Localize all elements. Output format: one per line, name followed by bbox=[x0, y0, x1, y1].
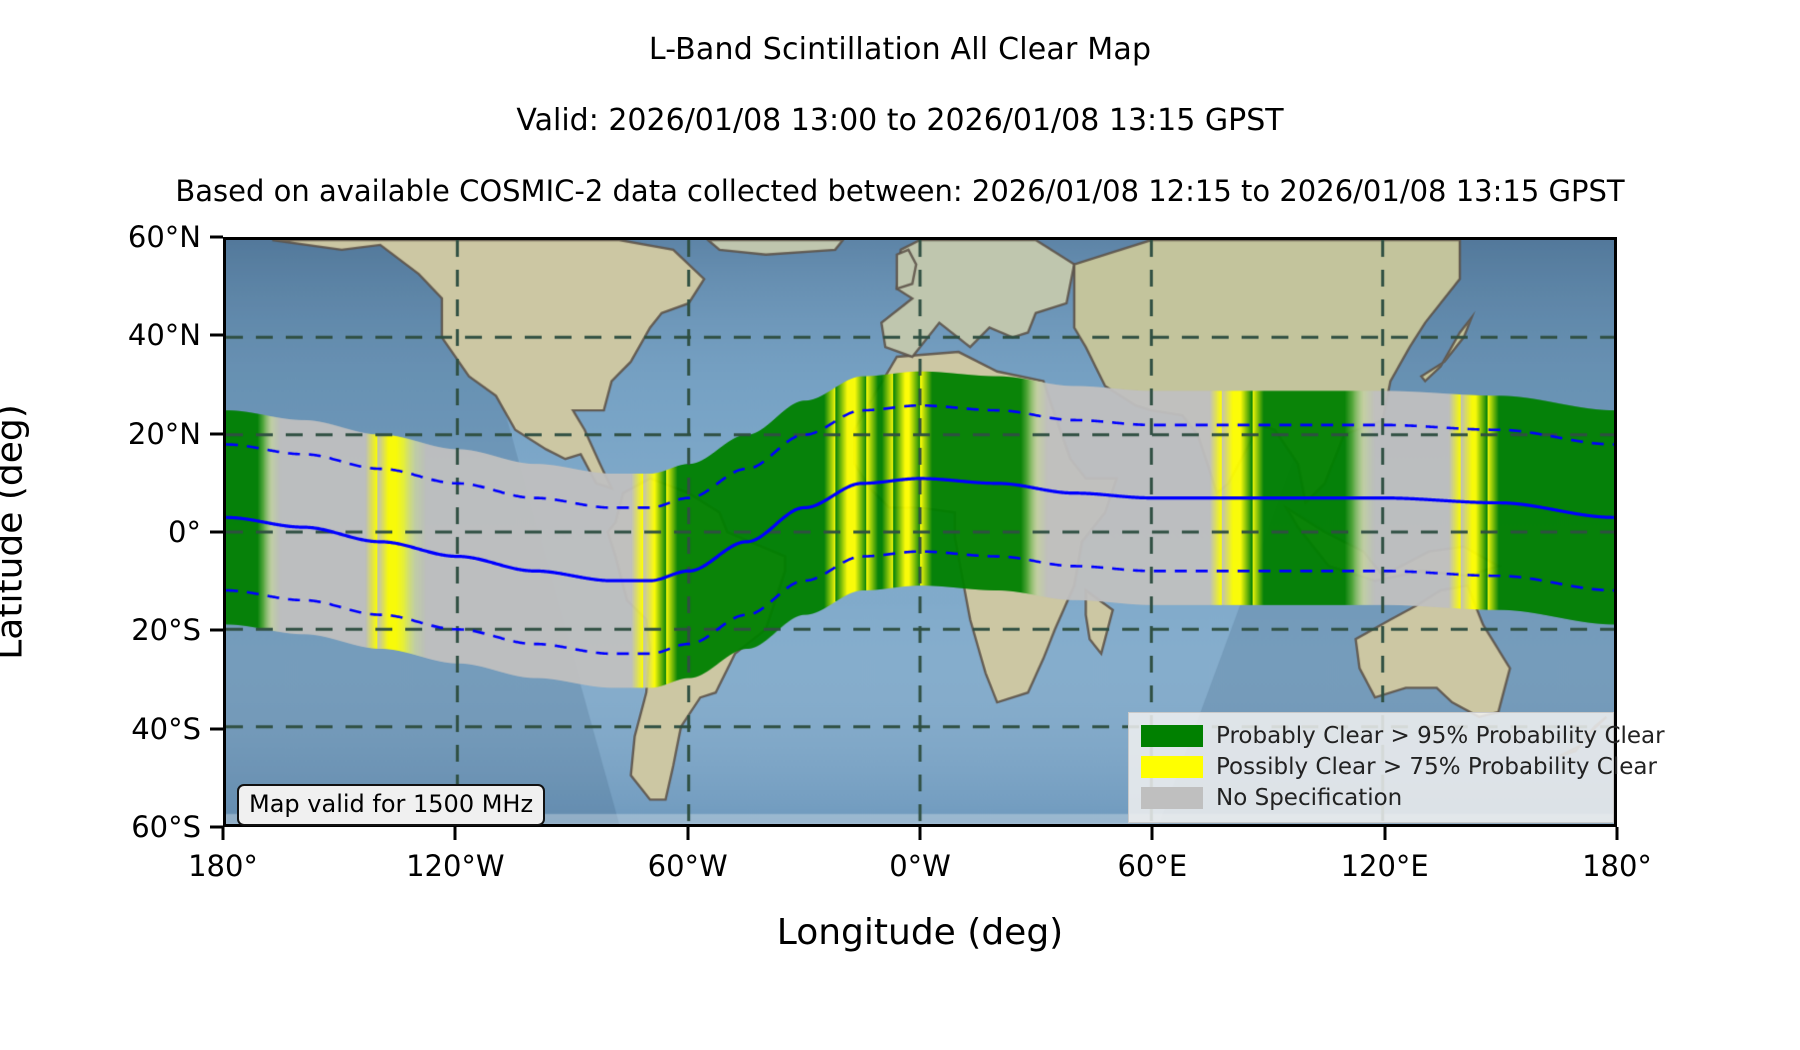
valid-period: Valid: 2026/01/08 13:00 to 2026/01/08 13… bbox=[0, 103, 1800, 138]
y-tick-mark-0 bbox=[210, 236, 223, 239]
x-tick-label-6: 180° bbox=[1582, 849, 1652, 883]
x-tick-label-1: 120°W bbox=[406, 849, 505, 883]
legend-label-no-specification: No Specification bbox=[1216, 785, 1402, 811]
legend-item-no-specification: No Specification bbox=[1141, 782, 1603, 813]
x-tick-label-5: 120°E bbox=[1341, 849, 1429, 883]
page-title: L-Band Scintillation All Clear Map bbox=[0, 32, 1800, 67]
y-tick-label-0: 60°N bbox=[128, 220, 201, 254]
title-block: L-Band Scintillation All Clear Map Valid… bbox=[0, 0, 1800, 208]
y-tick-mark-5 bbox=[210, 727, 223, 730]
x-tick-mark-6 bbox=[1616, 827, 1619, 840]
x-tick-label-3: 0°W bbox=[889, 849, 951, 883]
y-tick-mark-4 bbox=[210, 629, 223, 632]
y-tick-mark-6 bbox=[210, 826, 223, 829]
x-tick-label-2: 60°W bbox=[648, 849, 728, 883]
legend-label-probably-clear: Probably Clear > 95% Probability Clear bbox=[1216, 723, 1665, 749]
legend-swatch-no-specification bbox=[1141, 787, 1203, 809]
y-tick-label-4: 20°S bbox=[131, 613, 201, 647]
y-tick-mark-3 bbox=[210, 531, 223, 534]
y-tick-label-5: 40°S bbox=[131, 712, 201, 746]
frequency-note-box: Map valid for 1500 MHz bbox=[237, 784, 545, 826]
x-tick-mark-4 bbox=[1151, 827, 1154, 840]
x-tick-mark-3 bbox=[919, 827, 922, 840]
map-legend: Probably Clear > 95% Probability Clear P… bbox=[1128, 712, 1614, 823]
x-tick-mark-2 bbox=[686, 827, 689, 840]
legend-item-possibly-clear: Possibly Clear > 75% Probability Clear bbox=[1141, 751, 1603, 782]
y-tick-mark-2 bbox=[210, 432, 223, 435]
y-tick-label-6: 60°S bbox=[131, 810, 201, 844]
y-tick-label-3: 0° bbox=[168, 515, 201, 549]
legend-swatch-possibly-clear bbox=[1141, 756, 1203, 778]
y-axis-label: Latitude (deg) bbox=[0, 404, 31, 660]
x-tick-mark-1 bbox=[454, 827, 457, 840]
x-tick-label-4: 60°E bbox=[1117, 849, 1187, 883]
y-tick-label-2: 20°N bbox=[128, 417, 201, 451]
x-tick-mark-5 bbox=[1383, 827, 1386, 840]
data-source-note: Based on available COSMIC-2 data collect… bbox=[0, 174, 1800, 208]
legend-item-probably-clear: Probably Clear > 95% Probability Clear bbox=[1141, 720, 1603, 751]
x-axis-label: Longitude (deg) bbox=[777, 912, 1063, 953]
y-tick-mark-1 bbox=[210, 334, 223, 337]
legend-swatch-probably-clear bbox=[1141, 725, 1203, 747]
y-tick-label-1: 40°N bbox=[128, 318, 201, 352]
x-tick-mark-0 bbox=[222, 827, 225, 840]
legend-label-possibly-clear: Possibly Clear > 75% Probability Clear bbox=[1216, 754, 1657, 780]
x-tick-label-0: 180° bbox=[188, 849, 258, 883]
